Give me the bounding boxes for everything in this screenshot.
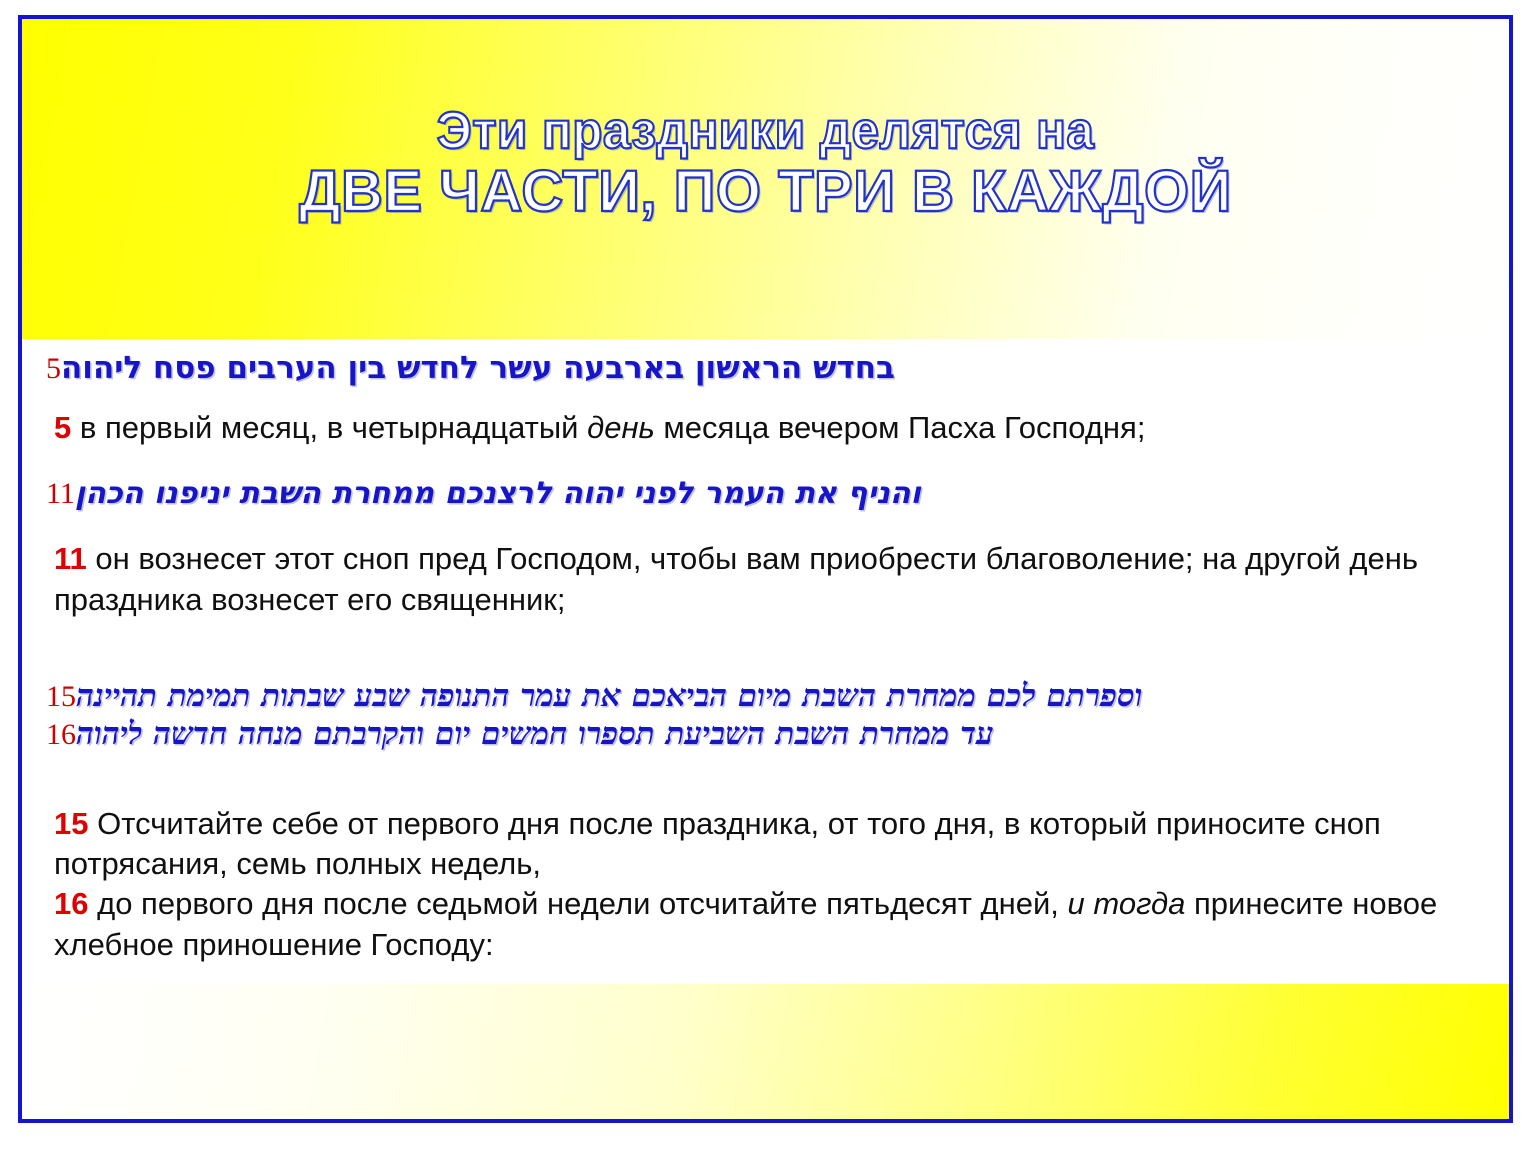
- hebrew-verse-text-5: בחדש הראשון בארבעה עשר לחדש בין הערבים פ…: [61, 350, 895, 386]
- verse-content: 5 בחדש הראשון בארבעה עשר לחדש בין הערבים…: [22, 344, 1509, 965]
- title-line-1: Эти праздники делятся на: [59, 105, 1472, 157]
- slide-frame: Эти праздники делятся на ДВЕ ЧАСТИ, ПО Т…: [18, 15, 1513, 1123]
- hebrew-verse-15: 15 וספרתם לכם ממחרת השבת מיום הביאכם את …: [36, 678, 1495, 714]
- russian-verse-16-italic: и тогда: [1068, 886, 1186, 921]
- hebrew-verse-text-15: וספרתם לכם ממחרת השבת מיום הביאכם את עמר…: [76, 678, 1142, 714]
- hebrew-verse-number-11: 11: [46, 477, 75, 511]
- hebrew-verse-number-15: 15: [46, 680, 76, 714]
- russian-verse-number-16: 16: [54, 886, 88, 921]
- russian-verse-15: 15 Отсчитайте себе от первого дня после …: [36, 804, 1495, 885]
- russian-verse-5-part1: в первый месяц, в четырнадцатый: [80, 410, 587, 445]
- bottom-gradient-band: [22, 984, 1509, 1119]
- hebrew-verse-16: 16 עד ממחרת השבת השביעת תספרו חמשים יום …: [36, 716, 1495, 752]
- hebrew-verse-text-11: והניף את העמר לפני יהוה לרצנכם ממחרת השב…: [75, 476, 921, 511]
- hebrew-verse-number-5: 5: [46, 352, 61, 386]
- russian-verse-16: 16 до первого дня после седьмой недели о…: [36, 884, 1495, 965]
- hebrew-verse-5: 5 בחדש הראשון בארבעה עשר לחדש בין הערבים…: [36, 350, 1495, 386]
- hebrew-verse-number-16: 16: [46, 718, 76, 752]
- hebrew-verse-text-16: עד ממחרת השבת השביעת תספרו חמשים יום והק…: [76, 716, 994, 752]
- title-line-2: ДВЕ ЧАСТИ, ПО ТРИ В КАЖДОЙ: [22, 163, 1509, 221]
- russian-verse-5-italic: день: [587, 410, 655, 445]
- russian-verse-11: 11 он вознесет этот сноп пред Господом, …: [36, 539, 1495, 620]
- russian-verse-number-5: 5: [54, 410, 71, 445]
- russian-verse-15-text: Отсчитайте себе от первого дня после пра…: [54, 806, 1381, 881]
- russian-verse-5: 5 в первый месяц, в четырнадцатый день м…: [36, 408, 1495, 448]
- hebrew-verse-11: 11 והניף את העמר לפני יהוה לרצנכם ממחרת …: [36, 476, 1495, 511]
- russian-verse-16-part1: до первого дня после седьмой недели отсч…: [97, 886, 1067, 921]
- page-title: Эти праздники делятся на ДВЕ ЧАСТИ, ПО Т…: [22, 105, 1509, 221]
- russian-verse-number-11: 11: [54, 541, 87, 576]
- russian-verse-number-15: 15: [54, 806, 88, 841]
- russian-verse-11-text: он вознесет этот сноп пред Господом, что…: [54, 541, 1418, 616]
- russian-verse-5-part2: месяца вечером Пасха Господня;: [655, 410, 1146, 445]
